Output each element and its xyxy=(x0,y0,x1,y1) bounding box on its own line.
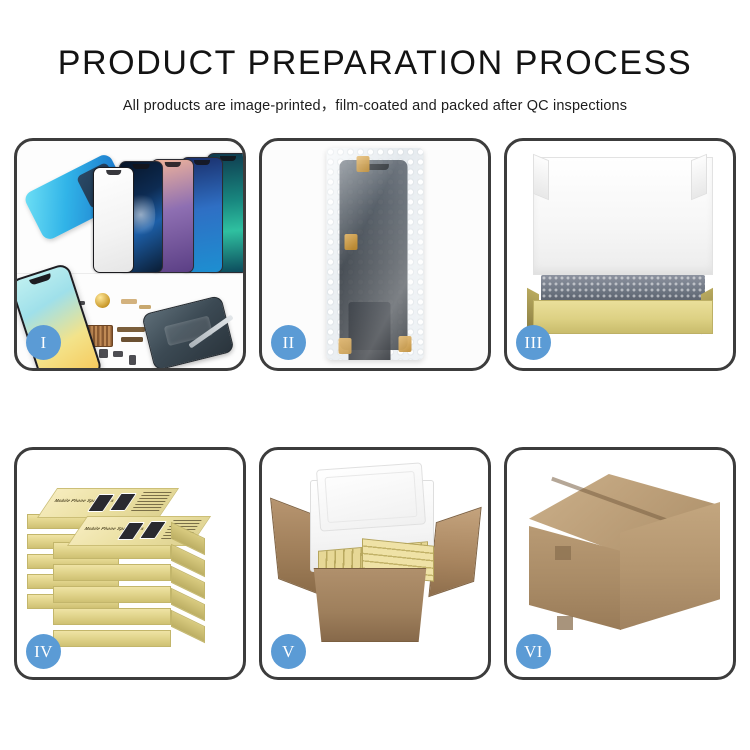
box-stack: Mobile Phone Spare Parts Mobile Phone Sp… xyxy=(25,468,237,663)
foam-lid-open xyxy=(316,462,426,531)
vibration-motor-part xyxy=(95,293,110,308)
tape-piece xyxy=(345,234,358,250)
part-flex-cable xyxy=(117,327,145,332)
step-badge-3: III xyxy=(516,325,551,360)
screen-flex-tail xyxy=(349,302,391,360)
notch-icon xyxy=(194,160,210,165)
grey-foam-padding xyxy=(541,275,705,303)
part-block xyxy=(129,355,136,365)
part-flex-cable xyxy=(121,337,143,342)
stacked-box xyxy=(53,586,171,603)
process-step-panel-4[interactable]: Mobile Phone Spare Parts Mobile Phone Sp… xyxy=(14,447,246,680)
tape-piece xyxy=(357,156,370,172)
lid-flap-right xyxy=(691,154,707,200)
carton-tape-patch xyxy=(557,616,573,630)
white-box-lid xyxy=(533,157,713,275)
notch-icon xyxy=(164,162,180,167)
notch-icon xyxy=(106,170,122,175)
process-step-panel-5[interactable]: V xyxy=(259,447,491,680)
process-step-panel-6[interactable]: VI xyxy=(504,447,736,680)
process-step-panel-1[interactable]: I xyxy=(14,138,246,371)
step-badge-5: V xyxy=(271,634,306,669)
product-preparation-infographic: PRODUCT PREPARATION PROCESS All products… xyxy=(0,0,750,750)
notch-icon xyxy=(133,164,150,169)
lid-flap-left xyxy=(533,154,549,200)
step-badge-6: VI xyxy=(516,634,551,669)
header: PRODUCT PREPARATION PROCESS All products… xyxy=(0,0,750,115)
yellow-box-front xyxy=(533,300,713,334)
phone-back-housing xyxy=(141,295,235,368)
step-badge-4: IV xyxy=(26,634,61,669)
part-connector xyxy=(121,299,137,304)
step-badge-2: II xyxy=(271,325,306,360)
part-connector xyxy=(139,305,151,309)
process-step-grid: I II xyxy=(14,138,736,680)
carton-front-panel xyxy=(306,568,434,642)
process-step-panel-3[interactable]: III xyxy=(504,138,736,371)
tape-piece xyxy=(339,338,352,354)
page-title: PRODUCT PREPARATION PROCESS xyxy=(0,44,750,83)
stacked-box xyxy=(53,630,171,647)
carton-flap-right xyxy=(428,507,481,598)
bubble-wrap-bag xyxy=(327,148,424,360)
stacked-box xyxy=(53,608,171,625)
phone-display-fan xyxy=(93,153,243,273)
part-block xyxy=(113,351,123,357)
process-step-panel-2[interactable]: II xyxy=(259,138,491,371)
phone-screen-white xyxy=(93,167,134,273)
part-block xyxy=(99,349,108,358)
carton-tape-patch xyxy=(555,546,571,560)
tape-piece xyxy=(399,336,412,352)
stacked-box xyxy=(53,564,171,581)
step-badge-1: I xyxy=(26,325,61,360)
page-subtitle: All products are image-printed，film-coat… xyxy=(0,94,750,115)
